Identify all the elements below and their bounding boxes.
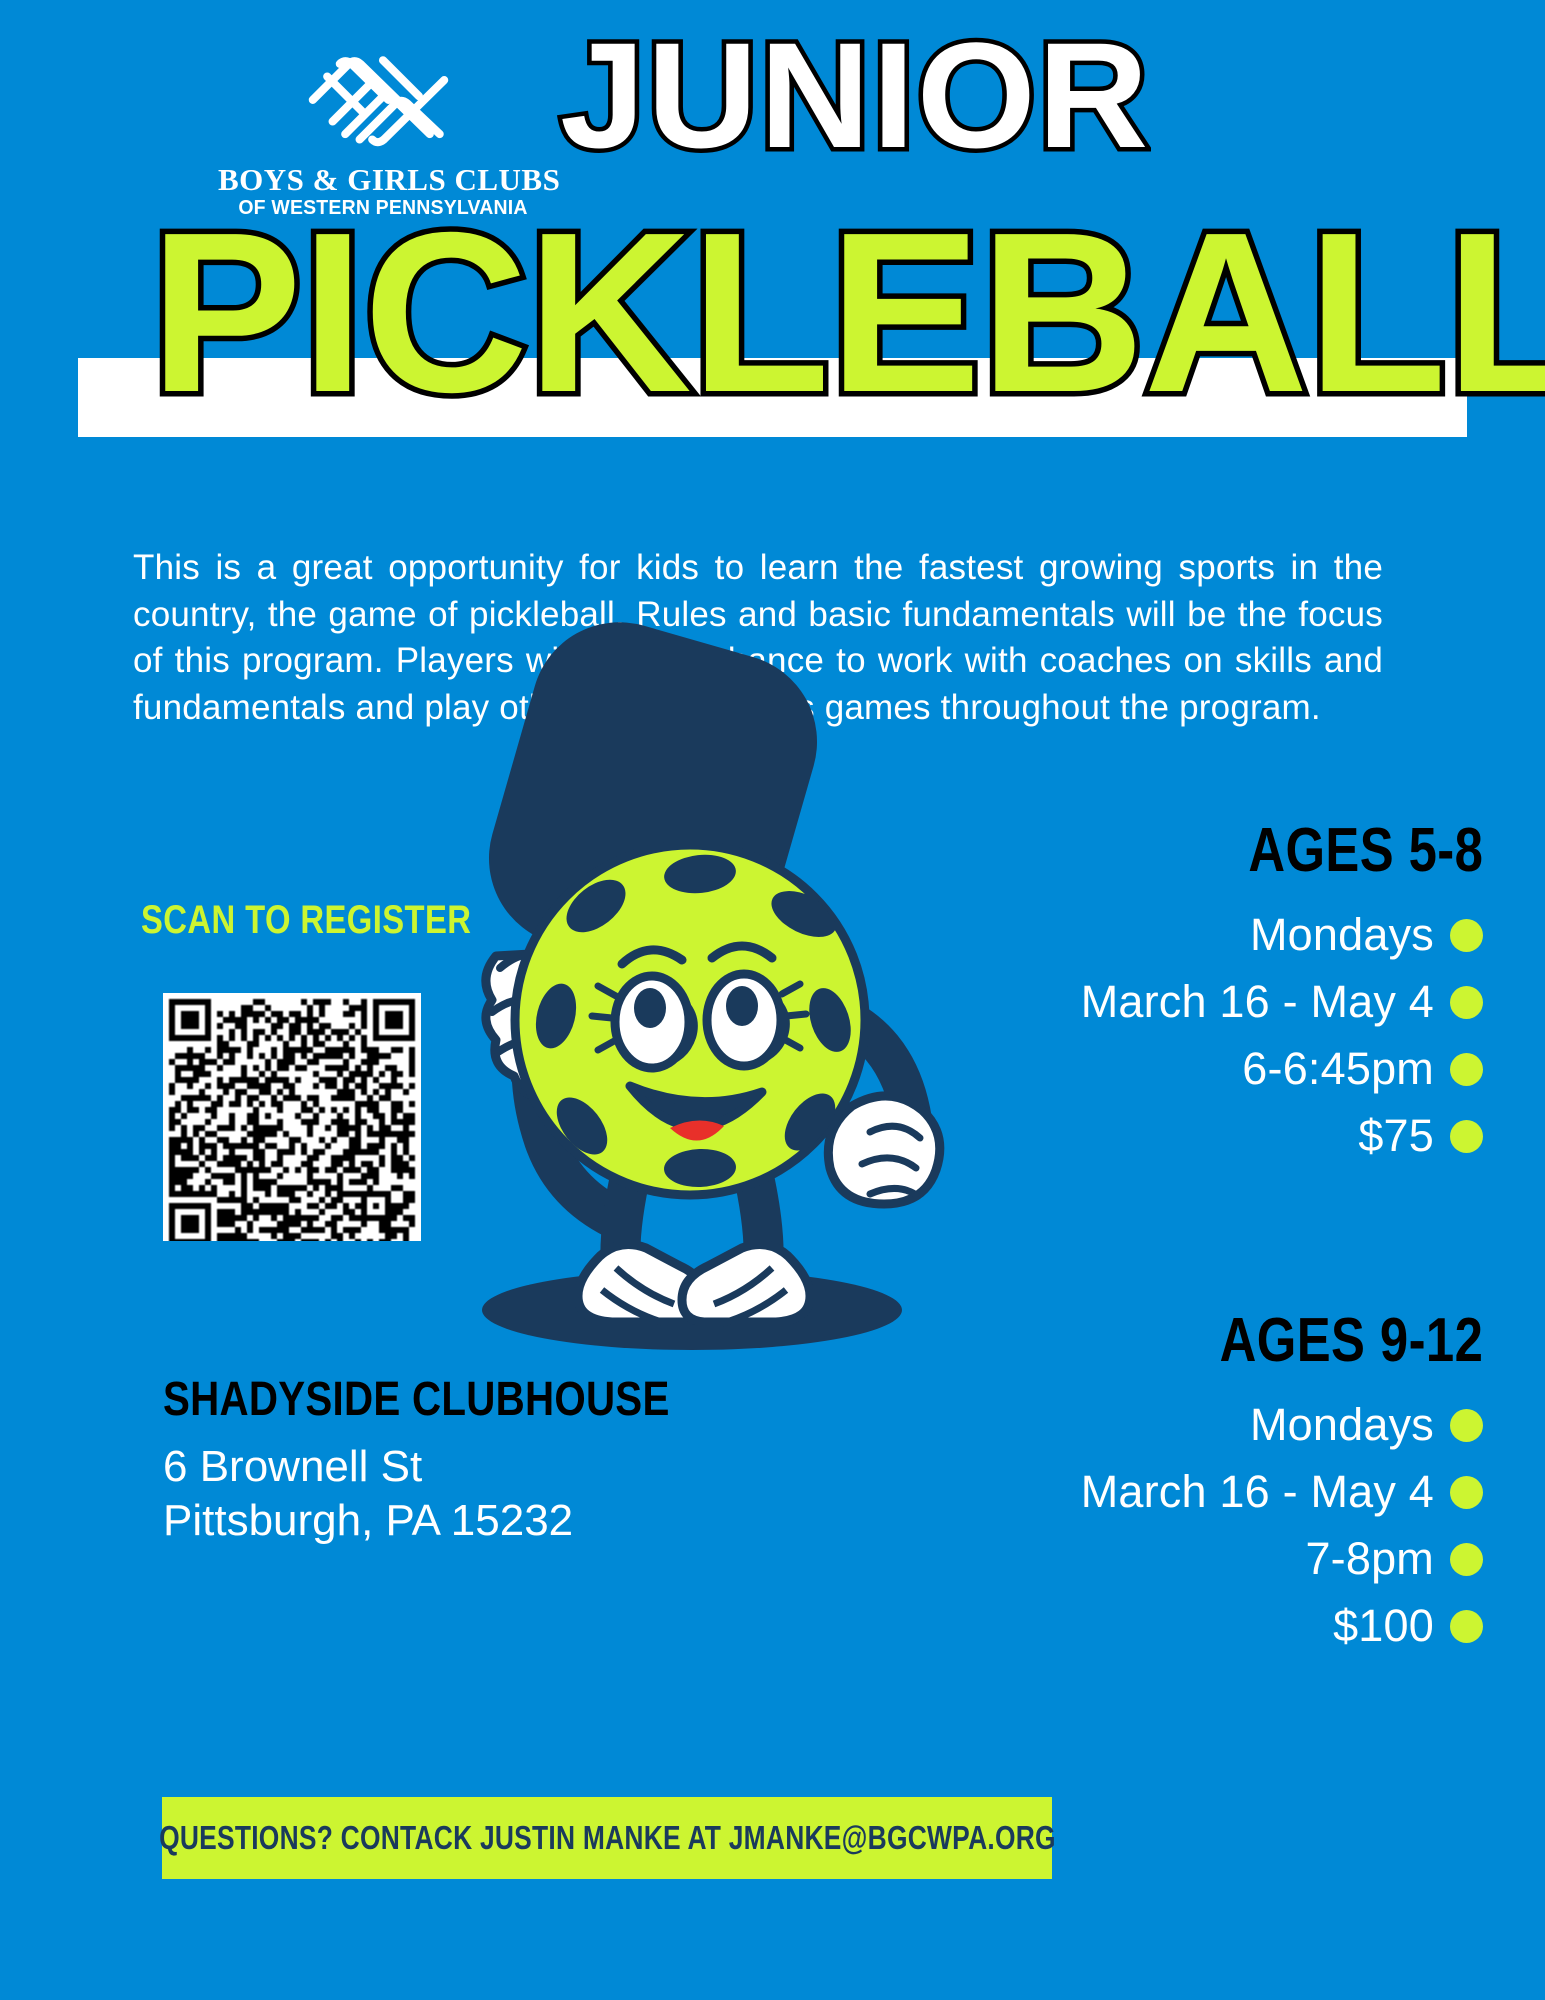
mascot-shoes [578, 1244, 810, 1324]
schedule-row: $75 [1081, 1109, 1483, 1164]
qr-code-image [163, 993, 421, 1241]
schedule-row: Mondays [1081, 908, 1483, 963]
schedule-time: 6-6:45pm [1242, 1042, 1434, 1097]
handshake-icon [293, 40, 473, 158]
headline-pickleball: PICKLEBALL [150, 205, 1545, 422]
schedule-time: 7-8pm [1305, 1532, 1434, 1587]
venue-city-state-zip: Pittsburgh, PA 15232 [163, 1494, 573, 1548]
age-group-9-12-title: AGES 9-12 [1153, 1310, 1483, 1372]
bullet-dot-icon [1450, 919, 1483, 952]
bullet-dot-icon [1450, 1409, 1483, 1442]
venue-name: SHADYSIDE CLUBHOUSE [163, 1372, 670, 1427]
bullet-dot-icon [1450, 1610, 1483, 1643]
pickleball-mascot [400, 620, 960, 1360]
bullet-dot-icon [1450, 1543, 1483, 1576]
schedule-day: Mondays [1250, 908, 1434, 963]
bullet-dot-icon [1450, 1120, 1483, 1153]
schedule-row: Mondays [1081, 1398, 1483, 1453]
schedule-row: 7-8pm [1081, 1532, 1483, 1587]
schedule-dates: March 16 - May 4 [1081, 975, 1434, 1030]
mascot-right-hand [828, 1096, 939, 1204]
schedule-price: $75 [1358, 1109, 1434, 1164]
schedule-row: March 16 - May 4 [1081, 1465, 1483, 1520]
age-group-5-8-rows: Mondays March 16 - May 4 6-6:45pm $75 [1081, 908, 1483, 1164]
headline-junior: JUNIOR [560, 24, 1150, 167]
venue-address: 6 Brownell St Pittsburgh, PA 15232 [163, 1440, 573, 1548]
qr-code[interactable] [163, 993, 421, 1241]
poster-canvas: BOYS & GIRLS CLUBS OF WESTERN PENNSYLVAN… [0, 0, 1545, 2000]
schedule-row: $100 [1081, 1599, 1483, 1654]
schedule-dates: March 16 - May 4 [1081, 1465, 1434, 1520]
age-group-5-8-title: AGES 5-8 [1153, 820, 1483, 882]
bullet-dot-icon [1450, 1476, 1483, 1509]
venue-street: 6 Brownell St [163, 1440, 573, 1494]
schedule-row: March 16 - May 4 [1081, 975, 1483, 1030]
age-group-5-8: AGES 5-8 Mondays March 16 - May 4 6-6:45… [1081, 820, 1483, 1176]
schedule-row: 6-6:45pm [1081, 1042, 1483, 1097]
age-group-9-12: AGES 9-12 Mondays March 16 - May 4 7-8pm… [1081, 1310, 1483, 1666]
age-group-9-12-rows: Mondays March 16 - May 4 7-8pm $100 [1081, 1398, 1483, 1654]
schedule-day: Mondays [1250, 1398, 1434, 1453]
schedule-price: $100 [1333, 1599, 1434, 1654]
bullet-dot-icon [1450, 1053, 1483, 1086]
bullet-dot-icon [1450, 986, 1483, 1019]
contact-banner: QUESTIONS? CONTACK JUSTIN MANKE AT JMANK… [162, 1797, 1052, 1879]
contact-text: QUESTIONS? CONTACK JUSTIN MANKE AT JMANK… [159, 1819, 1056, 1857]
